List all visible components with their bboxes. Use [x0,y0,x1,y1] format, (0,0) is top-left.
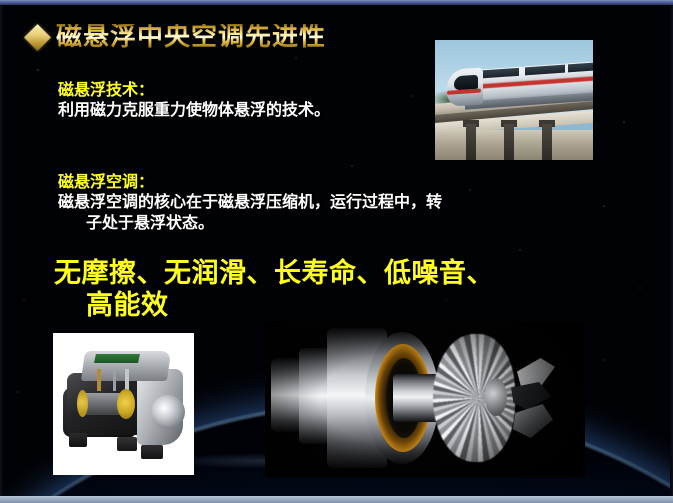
maglev-train-photo [435,40,593,160]
compressor-photo-foot-1 [69,433,87,447]
compressor-photo-circuit-board [94,354,140,363]
train-photo-pier-2 [504,124,514,160]
compressor-photo-piping [91,369,143,391]
highlight-benefits-text: 无摩擦、无润滑、长寿命、低噪音、 高能效 [54,258,614,322]
slide-title-row: 磁悬浮中央空调先进性 [28,24,326,50]
train-photo-nose [447,67,483,107]
rotor-photo-vignette [265,322,585,477]
compressor-photo-foot-3 [141,445,163,459]
page-title: 磁悬浮中央空调先进性 [56,24,326,50]
compressor-photo-foot-2 [117,437,137,451]
slide-frame-top [0,0,673,5]
compressor-photo-impeller-cone [151,395,185,429]
slide-frame-bottom [0,496,673,503]
magnetic-bearing-rotor-impeller-photo [265,322,585,477]
highlight-line-2: 高能效 [54,290,614,322]
compressor-photo-bearing-left [77,390,88,417]
diamond-bullet-icon [24,24,51,51]
compressor-photo-bearing-right [117,389,135,419]
section-maglev-air-conditioner: 磁悬浮空调： 磁悬浮空调的核心在于磁悬浮压缩机，运行过程中，转 子处于悬浮状态。 [58,172,598,234]
presentation-slide: 磁悬浮中央空调先进性 磁悬浮技术： 利用磁力克服重力使物体悬浮的技术。 磁悬浮空… [0,0,673,503]
train-photo-windows-3 [568,62,593,72]
train-photo-pier-3 [542,124,552,160]
train-photo-train-body [445,56,593,110]
section-body-maglev-technology: 利用磁力克服重力使物体悬浮的技术。 [58,100,330,121]
section-body-line-2: 子处于悬浮状态。 [58,213,586,234]
train-photo-pier-1 [466,124,476,160]
train-photo-ground [435,130,593,160]
section-maglev-technology: 磁悬浮技术： 利用磁力克服重力使物体悬浮的技术。 [58,80,330,121]
highlight-line-1: 无摩擦、无润滑、长寿命、低噪音、 [54,258,614,290]
section-heading-maglev-air-conditioner: 磁悬浮空调： [58,172,598,192]
section-body-line-1: 磁悬浮空调的核心在于磁悬浮压缩机，运行过程中，转 [58,192,558,213]
slide-frame-left [0,0,3,503]
magnetic-compressor-cutaway-photo [53,333,194,475]
section-heading-maglev-technology: 磁悬浮技术： [58,80,330,100]
